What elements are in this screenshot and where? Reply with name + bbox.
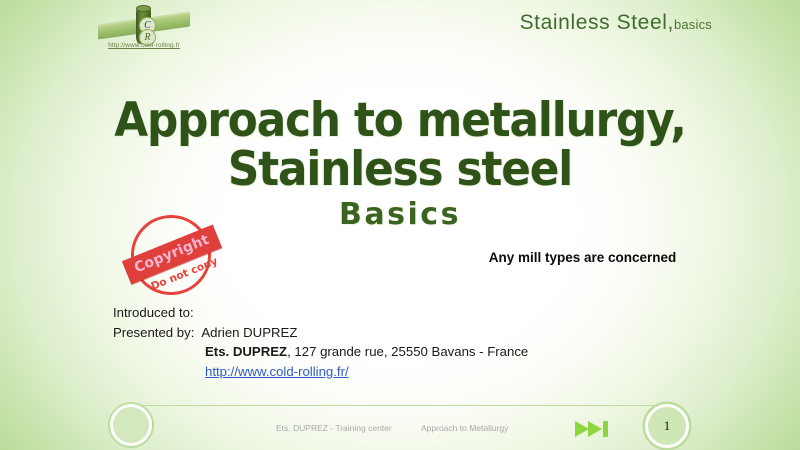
introduced-label: Introduced to: bbox=[113, 305, 194, 320]
presented-row: Presented by:Adrien DUPREZ bbox=[113, 323, 528, 343]
logo-roll-cap-icon bbox=[136, 5, 151, 12]
cold-rolling-logo[interactable]: C R http://www.cold-rolling.fr bbox=[96, 4, 192, 54]
website-row: http://www.cold-rolling.fr/ bbox=[113, 362, 528, 382]
footer-decoration-circle bbox=[110, 404, 152, 446]
presented-label: Presented by: bbox=[113, 325, 194, 340]
footer-divider bbox=[138, 405, 658, 406]
logo-url-text[interactable]: http://www.cold-rolling.fr bbox=[96, 42, 192, 49]
callout-text: Any mill types are concerned bbox=[470, 250, 695, 266]
company-name: Ets. DUPREZ bbox=[205, 344, 287, 359]
slide-header: Stainless Steel,basics bbox=[520, 11, 712, 35]
presentation-details: Introduced to: Presented by:Adrien DUPRE… bbox=[113, 303, 528, 381]
page-title-line-2: Stainless steel bbox=[28, 145, 772, 194]
footer-left-text: Ets. DUPREZ - Training center bbox=[276, 423, 392, 433]
skip-forward-icon[interactable] bbox=[574, 420, 614, 438]
page-title-line-1: Approach to metallurgy, bbox=[28, 96, 772, 145]
introduced-row: Introduced to: bbox=[113, 303, 528, 323]
slide-canvas: C R http://www.cold-rolling.fr Stainless… bbox=[0, 0, 800, 450]
company-row: Ets. DUPREZ, 127 grande rue, 25550 Bavan… bbox=[113, 342, 528, 362]
website-link[interactable]: http://www.cold-rolling.fr/ bbox=[205, 364, 349, 379]
presenter-name: Adrien DUPREZ bbox=[201, 325, 297, 340]
header-main-text: Stainless Steel, bbox=[520, 11, 674, 34]
header-sub-text: basics bbox=[674, 17, 712, 32]
footer-center-text: Approach to Metallurgy bbox=[421, 423, 508, 433]
company-address: , 127 grande rue, 25550 Bavans - France bbox=[287, 344, 528, 359]
copyright-stamp: Do not copy Copyright bbox=[119, 212, 222, 300]
page-number-badge: 1 bbox=[645, 404, 689, 448]
